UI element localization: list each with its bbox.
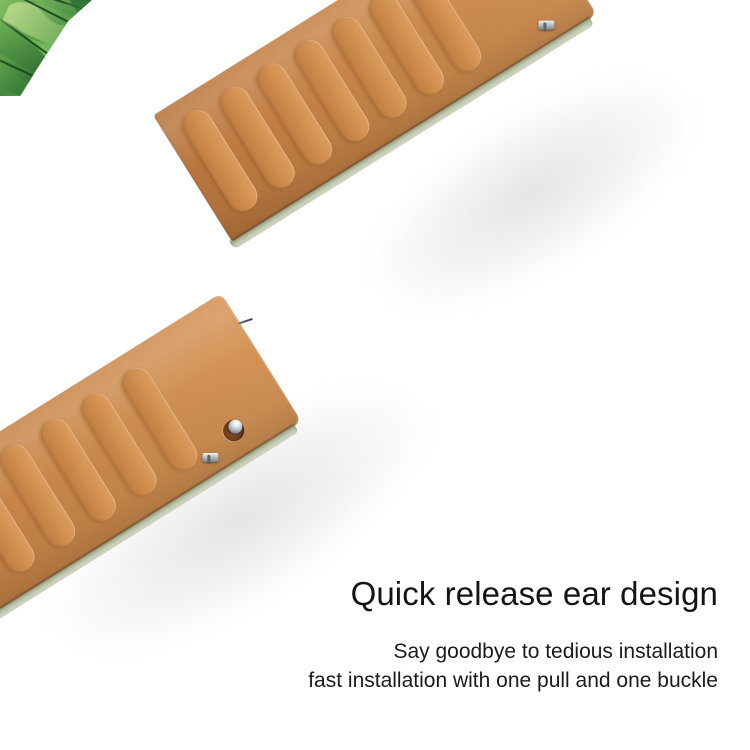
product-image-canvas: Quick release ear design Say goodbye to … (0, 0, 750, 750)
subheadline-line-2: fast installation with one pull and one … (308, 666, 718, 695)
leaf-print-decor (0, 0, 92, 96)
quick-release-ball-icon[interactable] (226, 417, 245, 436)
headline-text: Quick release ear design (351, 574, 718, 614)
spring-bar-needle (238, 318, 253, 325)
leaf-edge-shading (0, 0, 92, 96)
spring-bar-tip (202, 453, 218, 462)
subheadline-block: Say goodbye to tedious installation fast… (308, 637, 718, 695)
spring-bar-tip (538, 21, 554, 30)
subheadline-line-1: Say goodbye to tedious installation (308, 637, 718, 666)
quick-release-pin-hole[interactable] (219, 416, 248, 445)
